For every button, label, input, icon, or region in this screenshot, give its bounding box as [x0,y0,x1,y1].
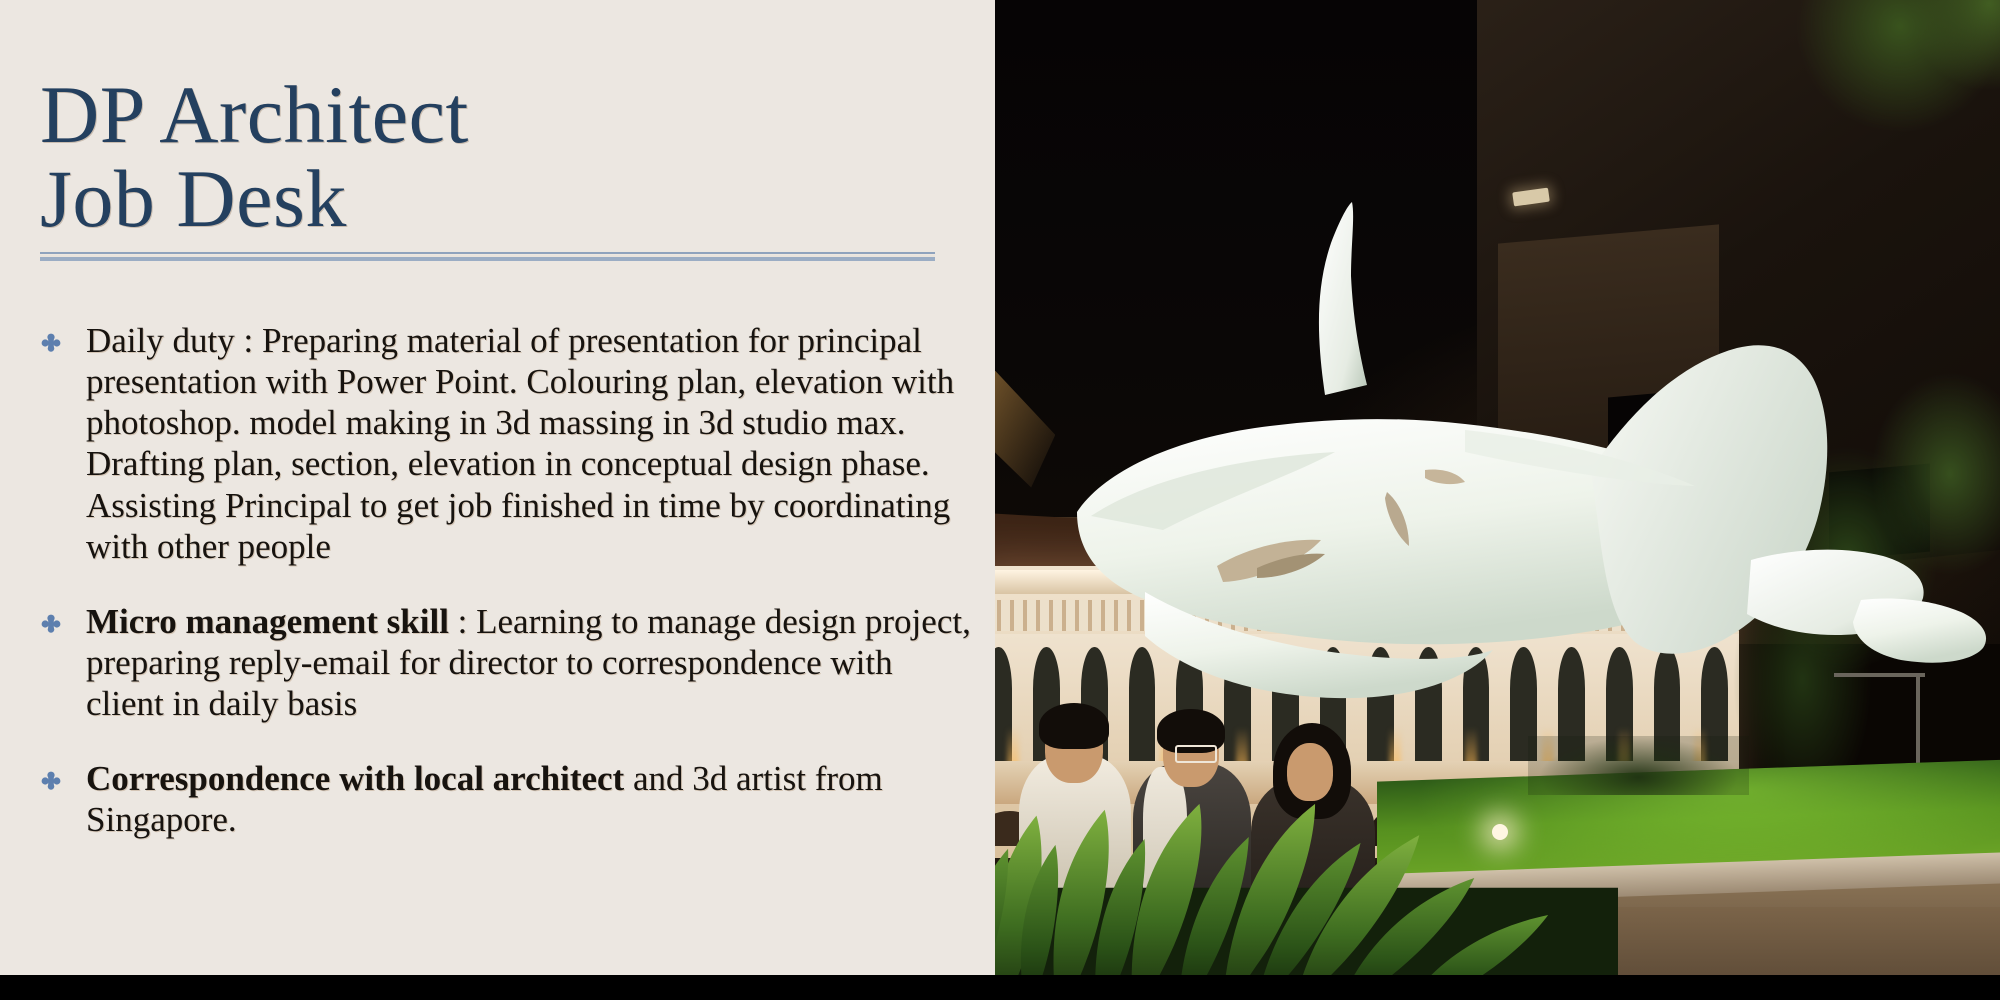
bullet-list: Daily duty : Preparing material of prese… [36,320,976,840]
text-panel: DP Architect Job Desk [0,0,995,975]
night-sculpture-photo [995,0,2000,975]
club-bullet-icon [40,770,62,792]
club-bullet-icon [40,332,62,354]
list-item-lead: Micro management skill [86,602,449,641]
club-bullet-icon [40,613,62,635]
title-divider [40,252,935,262]
page-title: DP Architect Job Desk [40,73,960,242]
bottom-bar [0,975,2000,1000]
foreground-foliage [995,644,1618,976]
list-item-lead: Correspondence with local architect [86,759,624,798]
list-item: Daily duty : Preparing material of prese… [36,320,976,567]
list-item-text: Daily duty : Preparing material of prese… [86,321,954,566]
presentation-slide: DP Architect Job Desk [0,0,2000,1000]
list-item: Micro management skill : Learning to man… [36,601,976,724]
list-item: Correspondence with local architect and … [36,758,976,840]
